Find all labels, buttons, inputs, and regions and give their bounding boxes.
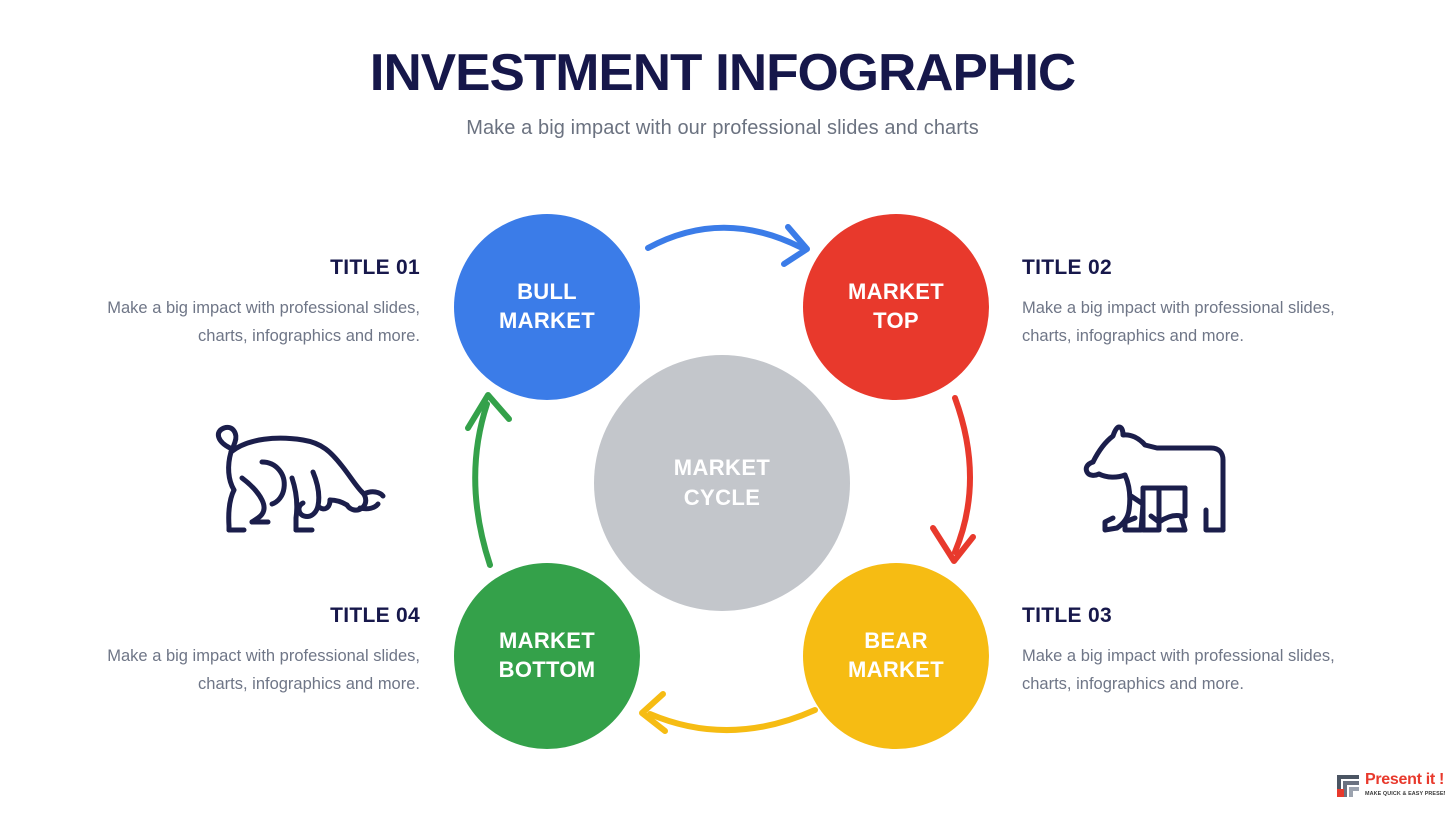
title-04-body: Make a big impact with professional slid… <box>75 642 420 699</box>
text-block-title-04: TITLE 04 Make a big impact with professi… <box>75 604 420 699</box>
text-block-title-01: TITLE 01 Make a big impact with professi… <box>75 256 420 351</box>
text-block-title-02: TITLE 02 Make a big impact with professi… <box>1022 256 1367 351</box>
node-market-top-line1: MARKET <box>848 278 944 307</box>
title-03-heading: TITLE 03 <box>1022 604 1367 628</box>
title-04-heading: TITLE 04 <box>75 604 420 628</box>
arrow-bottom-to-bull <box>468 395 509 565</box>
arrow-bear-to-bottom <box>642 694 815 731</box>
bull-icon <box>200 418 390 538</box>
bear-icon <box>1073 418 1243 538</box>
node-market-bottom-line1: MARKET <box>499 627 596 656</box>
presentation-chart-icon <box>1336 772 1362 798</box>
arrow-bull-to-top <box>648 227 807 264</box>
page-subtitle: Make a big impact with our professional … <box>0 117 1445 140</box>
node-bull-market-line1: BULL <box>499 278 595 307</box>
node-market-bottom-line2: BOTTOM <box>499 656 596 685</box>
logo-tagline: MAKE QUICK & EASY PRESENTATIONS <box>1365 791 1445 797</box>
node-bear-market[interactable]: BEAR MARKET <box>803 563 989 749</box>
page-title: INVESTMENT INFOGRAPHIC <box>0 46 1445 101</box>
logo-wordmark: Present it ! <box>1365 772 1445 788</box>
center-label-line1: MARKET <box>674 453 771 483</box>
title-02-body: Make a big impact with professional slid… <box>1022 294 1367 351</box>
node-bull-market[interactable]: BULL MARKET <box>454 214 640 400</box>
center-label-line2: CYCLE <box>674 483 771 513</box>
header: INVESTMENT INFOGRAPHIC Make a big impact… <box>0 46 1445 140</box>
node-bear-market-line2: MARKET <box>848 656 944 685</box>
title-02-heading: TITLE 02 <box>1022 256 1367 280</box>
node-market-top-line2: TOP <box>848 307 944 336</box>
present-it-logo[interactable]: Present it ! MAKE QUICK & EASY PRESENTAT… <box>1336 772 1440 804</box>
node-market-top[interactable]: MARKET TOP <box>803 214 989 400</box>
node-bull-market-line2: MARKET <box>499 307 595 336</box>
arrow-top-to-bear <box>933 398 973 561</box>
node-bear-market-line1: BEAR <box>848 627 944 656</box>
title-01-heading: TITLE 01 <box>75 256 420 280</box>
text-block-title-03: TITLE 03 Make a big impact with professi… <box>1022 604 1367 699</box>
title-03-body: Make a big impact with professional slid… <box>1022 642 1367 699</box>
node-market-bottom[interactable]: MARKET BOTTOM <box>454 563 640 749</box>
node-market-cycle-center[interactable]: MARKET CYCLE <box>594 355 850 611</box>
title-01-body: Make a big impact with professional slid… <box>75 294 420 351</box>
